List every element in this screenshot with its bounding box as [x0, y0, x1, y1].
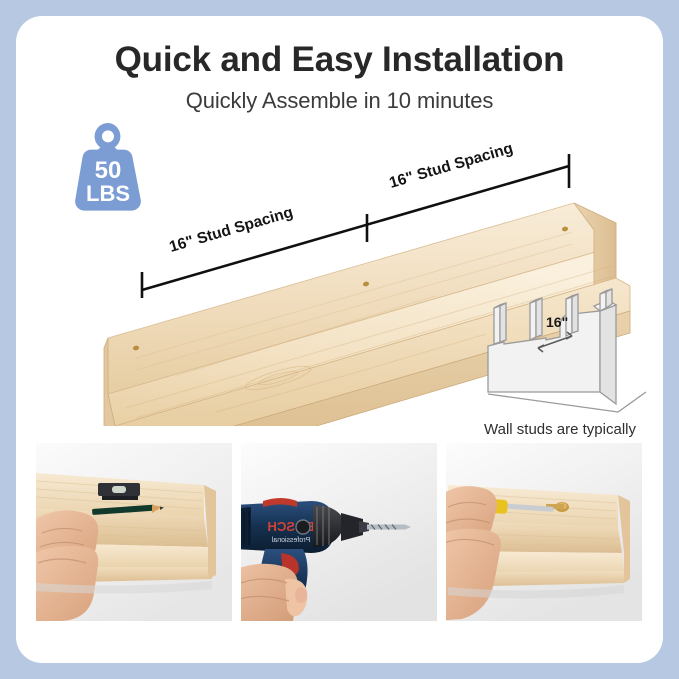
photo-drive-screws [446, 443, 642, 621]
photo-mark-with-pencil-and-level [36, 443, 232, 621]
hand [36, 510, 98, 621]
photo-drill-holes: BOSCH Professional [241, 443, 437, 621]
drill-bit [367, 525, 411, 530]
stud-spacing-label-right: 16" Stud Spacing [387, 140, 515, 192]
wall-stud-cutaway-icon: 16" [468, 274, 653, 424]
stud-post [494, 303, 506, 344]
stud-spacing-dimension-label: 16" [546, 314, 568, 330]
stud-post [530, 298, 542, 340]
wall-stud-diagram: 16" [468, 274, 653, 424]
page-title: Quick and Easy Installation [16, 40, 663, 80]
installation-photo-row: BOSCH Professional [36, 443, 643, 621]
drill-brand-sub: Professional [271, 537, 310, 544]
stud-spacing-label-left: 16" Stud Spacing [167, 204, 295, 256]
page-subtitle: Quickly Assemble in 10 minutes [16, 88, 663, 114]
infographic-card: Quick and Easy Installation Quickly Asse… [16, 16, 663, 663]
stud-caption-line-1: Wall studs are typically [460, 420, 660, 440]
spirit-level [98, 483, 140, 500]
